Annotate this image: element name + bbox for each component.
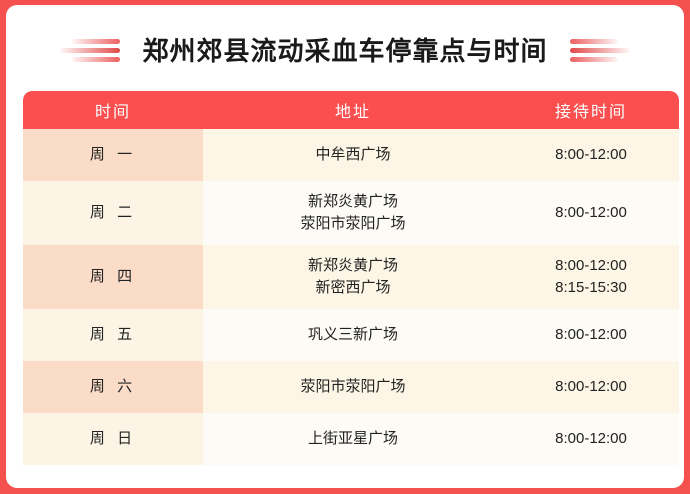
cell-address: 新郑炎黄广场 新密西广场: [203, 245, 503, 309]
table-row: 周 二 新郑炎黄广场 荥阳市荥阳广场 8:00-12:00: [23, 181, 679, 245]
table-header-row: 时间 地址 接待时间: [23, 91, 679, 129]
cell-hours: 8:00-12:00: [503, 129, 679, 181]
address-line: 新郑炎黄广场: [203, 255, 503, 277]
address-line: 荥阳市荥阳广场: [203, 213, 503, 235]
page-title: 郑州郊县流动采血车停靠点与时间: [142, 38, 547, 64]
poster-card: 郑州郊县流动采血车停靠点与时间 时间 地址 接待时间 周 一: [6, 5, 684, 488]
table-row: 周 四 新郑炎黄广场 新密西广场 8:00-12:00 8:15-15:30: [23, 245, 679, 309]
cell-day: 周 二: [23, 181, 203, 245]
hours-line: 8:00-12:00: [503, 255, 679, 277]
cell-address: 巩义三新广场: [203, 309, 503, 361]
cell-day: 周 五: [23, 309, 203, 361]
address-line: 新密西广场: [203, 277, 503, 299]
cell-hours: 8:00-12:00: [503, 181, 679, 245]
hours-line: 8:00-12:00: [503, 428, 679, 450]
address-line: 荥阳市荥阳广场: [203, 376, 503, 398]
schedule-table: 时间 地址 接待时间 周 一 中牟西广场 8:00-12:00: [23, 91, 679, 465]
schedule-table-wrap: 时间 地址 接待时间 周 一 中牟西广场 8:00-12:00: [23, 91, 667, 465]
cell-address: 荥阳市荥阳广场: [203, 361, 503, 413]
address-line: 巩义三新广场: [203, 324, 503, 346]
address-line: 中牟西广场: [203, 144, 503, 166]
hours-line: 8:15-15:30: [503, 277, 679, 299]
cell-address: 新郑炎黄广场 荥阳市荥阳广场: [203, 181, 503, 245]
cell-address: 中牟西广场: [203, 129, 503, 181]
cell-hours: 8:00-12:00: [503, 361, 679, 413]
hours-line: 8:00-12:00: [503, 376, 679, 398]
cell-day: 周 四: [23, 245, 203, 309]
poster-frame: 郑州郊县流动采血车停靠点与时间 时间 地址 接待时间 周 一: [0, 0, 690, 494]
hours-line: 8:00-12:00: [503, 144, 679, 166]
cell-day: 周 一: [23, 129, 203, 181]
table-header: 时间 地址 接待时间: [23, 91, 679, 129]
hours-line: 8:00-12:00: [503, 202, 679, 224]
column-header-address: 地址: [203, 91, 503, 129]
table-row: 周 一 中牟西广场 8:00-12:00: [23, 129, 679, 181]
column-header-time: 时间: [23, 91, 203, 129]
table-row: 周 五 巩义三新广场 8:00-12:00: [23, 309, 679, 361]
table-body: 周 一 中牟西广场 8:00-12:00 周 二 新郑炎黄广场 荥阳市荥阳广场: [23, 129, 679, 465]
cell-hours: 8:00-12:00 8:15-15:30: [503, 245, 679, 309]
column-header-reception-time: 接待时间: [503, 91, 679, 129]
hours-line: 8:00-12:00: [503, 324, 679, 346]
triple-line-decoration-left-icon: [58, 36, 124, 66]
title-banner: 郑州郊县流动采血车停靠点与时间: [6, 5, 684, 91]
address-line: 上街亚星广场: [203, 428, 503, 450]
table-row: 周 六 荥阳市荥阳广场 8:00-12:00: [23, 361, 679, 413]
table-row: 周 日 上街亚星广场 8:00-12:00: [23, 413, 679, 465]
cell-day: 周 日: [23, 413, 203, 465]
cell-hours: 8:00-12:00: [503, 309, 679, 361]
cell-hours: 8:00-12:00: [503, 413, 679, 465]
cell-day: 周 六: [23, 361, 203, 413]
address-line: 新郑炎黄广场: [203, 191, 503, 213]
cell-address: 上街亚星广场: [203, 413, 503, 465]
triple-line-decoration-right-icon: [566, 36, 632, 66]
